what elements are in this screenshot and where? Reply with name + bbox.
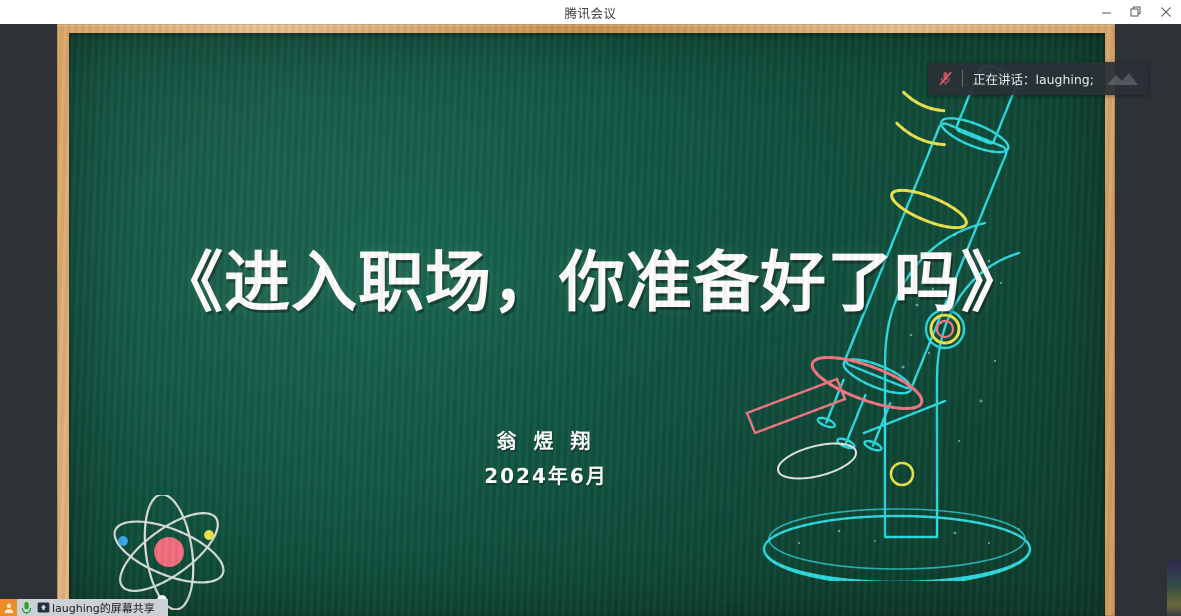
slide-frame: 《进入职场，你准备好了吗》 翁 煜 翔 2024年6月 [57, 24, 1115, 616]
user-avatar-icon [0, 599, 17, 616]
slide-title: 《进入职场，你准备好了吗》 [69, 229, 1105, 325]
minimize-button[interactable] [1091, 0, 1121, 24]
screenshare-label: laughing的屏幕共享 [51, 600, 155, 616]
window-controls [1091, 0, 1181, 24]
speaking-label: 正在讲话：laughing; [963, 69, 1102, 88]
screenshare-taskbar[interactable]: laughing的屏幕共享 [0, 599, 168, 616]
mic-muted-icon [928, 70, 962, 87]
adjacent-window-edge [1167, 560, 1181, 616]
slide-author: 翁 煜 翔 [421, 425, 671, 454]
chalkboard-slide: 《进入职场，你准备好了吗》 翁 煜 翔 2024年6月 [69, 33, 1105, 616]
close-button[interactable] [1151, 0, 1181, 24]
meeting-window: 腾讯会议 [0, 0, 1181, 616]
speaking-indicator[interactable]: 正在讲话：laughing; [928, 62, 1148, 95]
atom-illustration [99, 495, 239, 610]
restore-button[interactable] [1121, 0, 1151, 24]
audio-wave-icon [1102, 70, 1148, 88]
window-title: 腾讯会议 [564, 3, 616, 22]
window-titlebar: 腾讯会议 [0, 0, 1181, 24]
screen-share-icon[interactable] [35, 602, 51, 613]
left-dark-strip [0, 24, 57, 616]
microphone-icon[interactable] [17, 601, 35, 615]
slide-date: 2024年6月 [421, 460, 671, 489]
